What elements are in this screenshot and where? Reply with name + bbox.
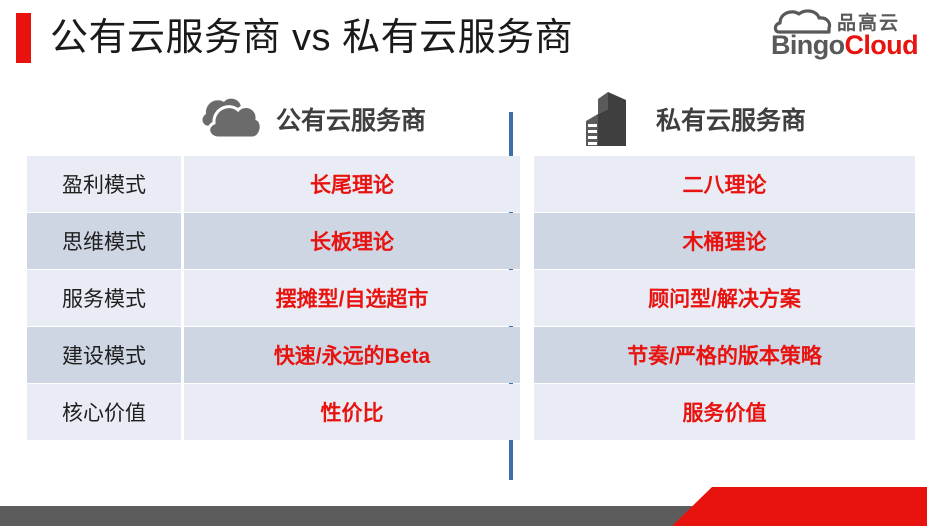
title-accent-bar	[16, 13, 31, 63]
cell-private: 二八理论	[534, 156, 915, 212]
table-row: 思维模式 长板理论 木桶理论	[27, 213, 915, 269]
table-row: 核心价值 性价比 服务价值	[27, 384, 915, 440]
cell-public: 快速/永远的Beta	[184, 327, 534, 383]
row-label: 思维模式	[27, 213, 184, 269]
cell-public: 长板理论	[184, 213, 534, 269]
comparison-table: 盈利模式 长尾理论 二八理论 思维模式 长板理论 木桶理论 服务模式 摆摊型/自…	[27, 156, 915, 441]
row-label: 盈利模式	[27, 156, 184, 212]
table-row: 服务模式 摆摊型/自选超市 顾问型/解决方案	[27, 270, 915, 326]
building-icon	[576, 89, 640, 149]
page-title: 公有云服务商 vs 私有云服务商	[50, 8, 573, 68]
cell-public: 摆摊型/自选超市	[184, 270, 534, 326]
cell-private: 木桶理论	[534, 213, 915, 269]
row-label: 服务模式	[27, 270, 184, 326]
row-label: 建设模式	[27, 327, 184, 383]
column-header-public-cloud: 公有云服务商	[196, 86, 426, 152]
cell-private: 服务价值	[534, 384, 915, 440]
cloud-icon	[196, 89, 260, 149]
cell-public: 性价比	[184, 384, 534, 440]
cell-private: 顾问型/解决方案	[534, 270, 915, 326]
cell-public: 长尾理论	[184, 156, 534, 212]
brand-logo: 品高云 BingoCloud	[771, 4, 919, 58]
column-header-label: 私有云服务商	[656, 101, 806, 137]
footer-red-accent	[672, 487, 927, 526]
logo-wordmark: BingoCloud	[771, 30, 918, 61]
cell-private: 节奏/严格的版本策略	[534, 327, 915, 383]
logo-word-bingo: Bingo	[771, 30, 844, 60]
logo-word-cloud: Cloud	[844, 30, 917, 60]
row-label: 核心价值	[27, 384, 184, 440]
column-header-label: 公有云服务商	[276, 101, 426, 137]
table-row: 建设模式 快速/永远的Beta 节奏/严格的版本策略	[27, 327, 915, 383]
table-row: 盈利模式 长尾理论 二八理论	[27, 156, 915, 212]
column-header-private-cloud: 私有云服务商	[576, 86, 806, 152]
